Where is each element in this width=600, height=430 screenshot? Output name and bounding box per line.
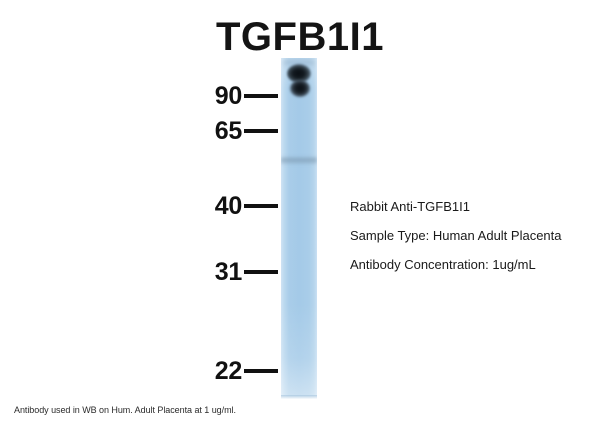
mw-marker-row: 40 (202, 193, 278, 219)
mw-marker-row: 90 (202, 83, 278, 109)
mw-marker-label: 40 (202, 193, 242, 219)
mw-marker-row: 31 (202, 259, 278, 285)
mw-marker-row: 65 (202, 118, 278, 144)
lane-texture (281, 58, 317, 399)
footer-caption: Antibody used in WB on Hum. Adult Placen… (14, 404, 236, 416)
mw-marker-tick-icon (244, 369, 278, 373)
lane-bottom-edge (281, 395, 317, 399)
mw-marker-tick-icon (244, 94, 278, 98)
annotation-antibody-concentration: Antibody Concentration: 1ug/mL (350, 257, 590, 272)
annotation-sample-type: Sample Type: Human Adult Placenta (350, 228, 590, 243)
western-blot-lane (281, 58, 317, 399)
mw-marker-row: 22 (202, 358, 278, 384)
mw-marker-tick-icon (244, 129, 278, 133)
protein-band-lower (290, 80, 310, 97)
mw-marker-label: 90 (202, 83, 242, 109)
annotation-antibody-name: Rabbit Anti-TGFB1I1 (350, 199, 590, 214)
annotation-block: Rabbit Anti-TGFB1I1 Sample Type: Human A… (350, 199, 590, 272)
protein-band-faint (281, 156, 317, 165)
mw-marker-tick-icon (244, 270, 278, 274)
mw-marker-label: 22 (202, 358, 242, 384)
mw-marker-label: 31 (202, 259, 242, 285)
mw-marker-label: 65 (202, 118, 242, 144)
mw-marker-tick-icon (244, 204, 278, 208)
